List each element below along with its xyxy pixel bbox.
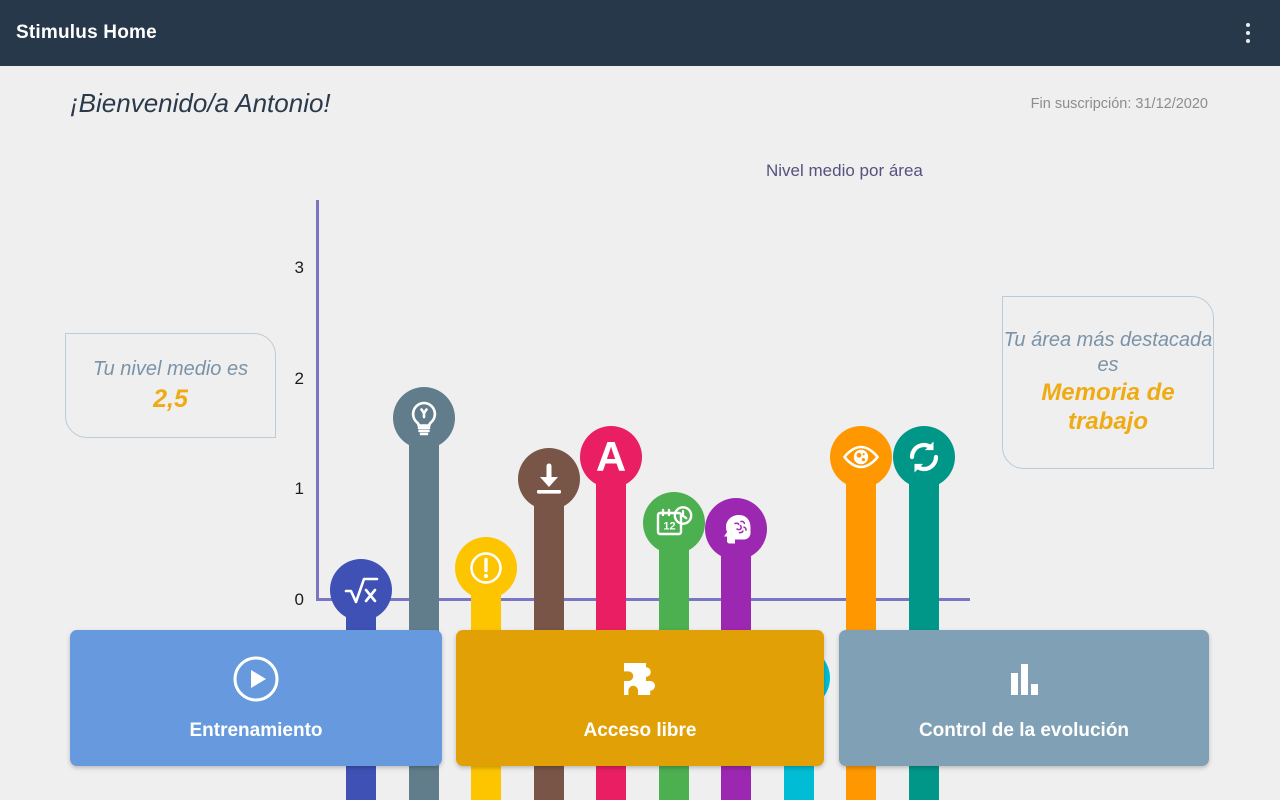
greeting-text: ¡Bienvenido/a Antonio! xyxy=(70,88,331,119)
letter-a-icon: A xyxy=(580,426,642,488)
menu-dot xyxy=(1246,39,1250,43)
refresh-cycle-icon xyxy=(893,426,955,488)
puzzle-piece-icon xyxy=(616,655,664,706)
eye-icon xyxy=(830,426,892,488)
exclamation-circle-icon xyxy=(455,537,517,599)
top-area-label: Tu área más destacada es xyxy=(1003,328,1213,377)
more-vertical-icon[interactable] xyxy=(1224,0,1272,66)
y-tick-label: 2 xyxy=(280,369,304,389)
app-title: Stimulus Home xyxy=(16,22,157,44)
entrenamiento-label: Entrenamiento xyxy=(189,720,322,742)
svg-text:12: 12 xyxy=(663,521,675,533)
average-level-value: 2,5 xyxy=(153,384,188,414)
control-evolucion-label: Control de la evolución xyxy=(919,720,1129,742)
subscription-end-date: Fin suscripción: 31/12/2020 xyxy=(1031,96,1208,112)
y-tick-label: 0 xyxy=(280,590,304,610)
head-brain-icon xyxy=(705,498,767,560)
play-circle-icon xyxy=(232,655,280,706)
chart-title: Nivel medio por área xyxy=(766,161,923,181)
y-tick-label: 1 xyxy=(280,479,304,499)
top-area-value: Memoria de trabajo xyxy=(1003,379,1213,437)
average-level-callout: Tu nivel medio es 2,5 xyxy=(65,333,276,438)
app-bar: Stimulus Home xyxy=(0,0,1280,66)
menu-dot xyxy=(1246,31,1250,35)
lightbulb-icon xyxy=(393,387,455,449)
entrenamiento-button[interactable]: Entrenamiento xyxy=(70,630,442,766)
menu-dot xyxy=(1246,23,1250,27)
average-level-label: Tu nivel medio es xyxy=(93,357,248,381)
chart-y-axis xyxy=(316,200,319,601)
top-area-callout: Tu área más destacada es Memoria de trab… xyxy=(1002,296,1214,469)
y-tick-label: 3 xyxy=(280,258,304,278)
download-icon xyxy=(518,448,580,510)
acceso-libre-label: Acceso libre xyxy=(584,720,697,742)
acceso-libre-button[interactable]: Acceso libre xyxy=(456,630,824,766)
bar-chart-icon xyxy=(1000,655,1048,706)
calendar-clock-icon: 12 xyxy=(643,492,705,554)
control-evolucion-button[interactable]: Control de la evolución xyxy=(839,630,1209,766)
square-root-icon xyxy=(330,559,392,621)
action-buttons: Entrenamiento Acceso libre Control de la… xyxy=(0,630,1280,766)
chart-x-axis xyxy=(316,598,970,601)
